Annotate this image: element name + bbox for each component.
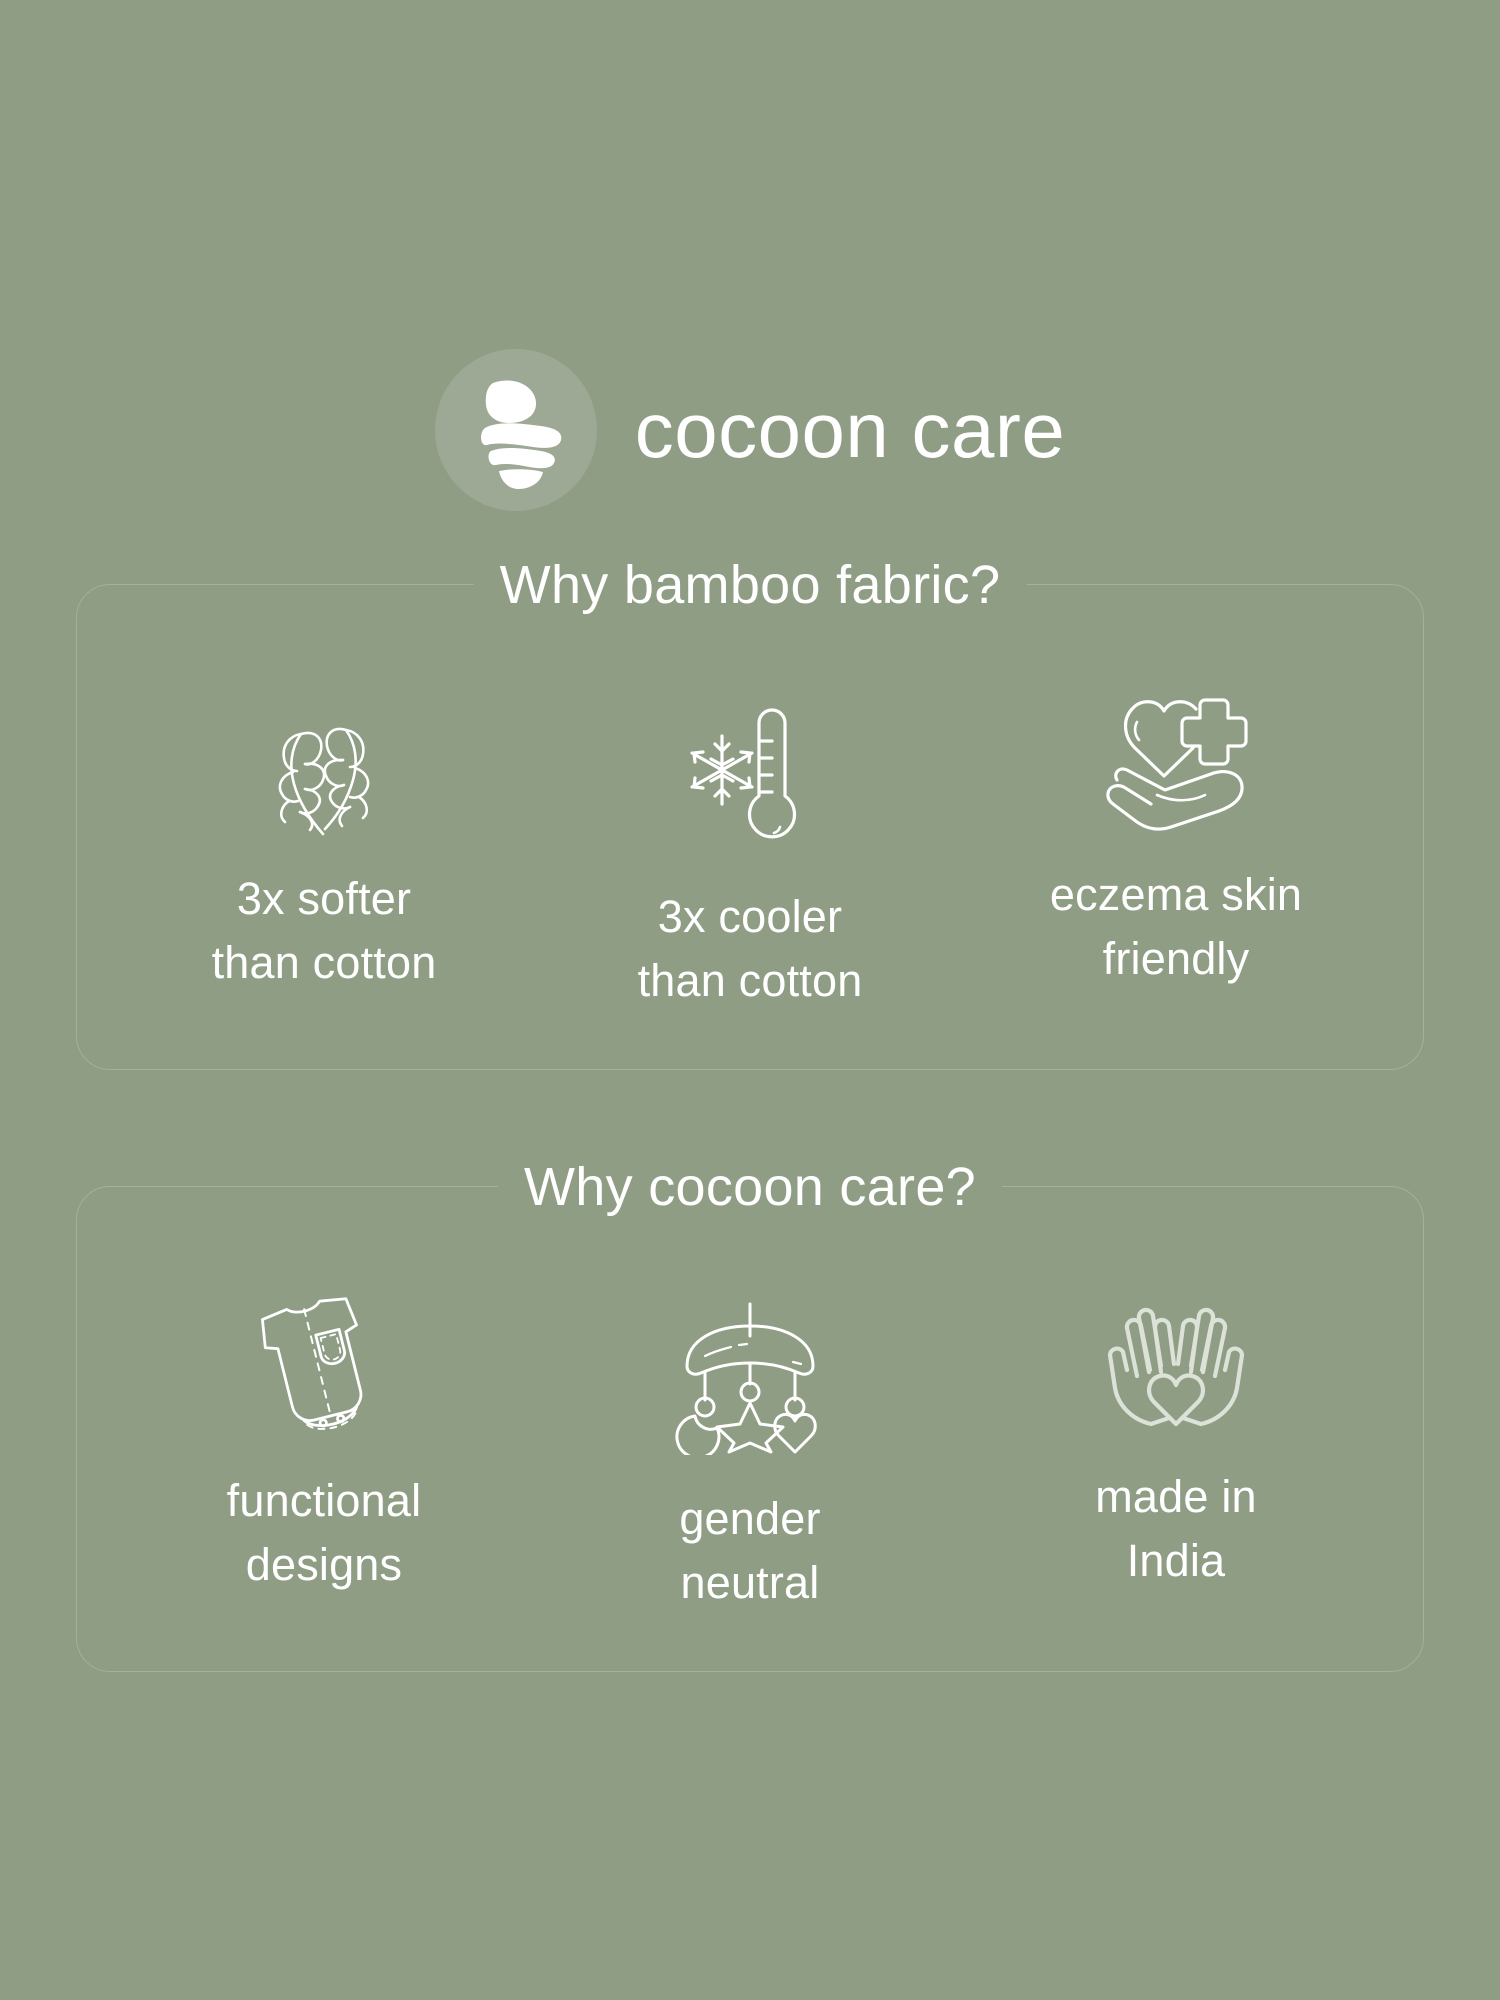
feature-3x-cooler: 3x cooler than cotton bbox=[537, 681, 963, 1013]
thermometer-snowflake-icon bbox=[675, 695, 825, 855]
feature-label: eczema skin friendly bbox=[1050, 863, 1302, 991]
brand-lockup: cocoon care bbox=[435, 350, 1065, 510]
feature-gender-neutral: gender neutral bbox=[537, 1283, 963, 1615]
feature-label: 3x softer than cotton bbox=[212, 867, 437, 995]
hands-heart-icon bbox=[1101, 1279, 1251, 1439]
feature-list: 3x softer than cotton bbox=[111, 681, 1389, 1013]
brand-name: cocoon care bbox=[635, 391, 1065, 469]
feature-functional-designs: functional designs bbox=[111, 1283, 537, 1597]
feature-3x-softer: 3x softer than cotton bbox=[111, 681, 537, 995]
section-heading: Why cocoon care? bbox=[498, 1157, 1002, 1217]
section-why-bamboo-fabric: Why bamboo fabric? bbox=[76, 584, 1424, 1070]
feature-label: made in India bbox=[1095, 1465, 1257, 1593]
promo-graphic: cocoon care Why bamboo fabric? bbox=[0, 0, 1500, 2000]
feathers-icon bbox=[249, 681, 399, 841]
hand-heart-medical-cross-icon bbox=[1099, 677, 1254, 837]
feature-label: functional designs bbox=[227, 1469, 422, 1597]
baby-onesie-icon bbox=[249, 1283, 399, 1443]
section-why-cocoon-care: Why cocoon care? bbox=[76, 1186, 1424, 1672]
cocoon-leaf-mark-icon bbox=[435, 349, 597, 511]
section-heading: Why bamboo fabric? bbox=[474, 555, 1027, 615]
feature-label: gender neutral bbox=[679, 1487, 820, 1615]
feature-made-in-india: made in India bbox=[963, 1283, 1389, 1593]
feature-list: functional designs bbox=[111, 1283, 1389, 1615]
section-card: Why bamboo fabric? bbox=[76, 584, 1424, 1070]
baby-mobile-icon bbox=[675, 1297, 825, 1457]
feature-label: 3x cooler than cotton bbox=[638, 885, 863, 1013]
section-card: Why cocoon care? bbox=[76, 1186, 1424, 1672]
feature-eczema-skin-friendly: eczema skin friendly bbox=[963, 681, 1389, 991]
